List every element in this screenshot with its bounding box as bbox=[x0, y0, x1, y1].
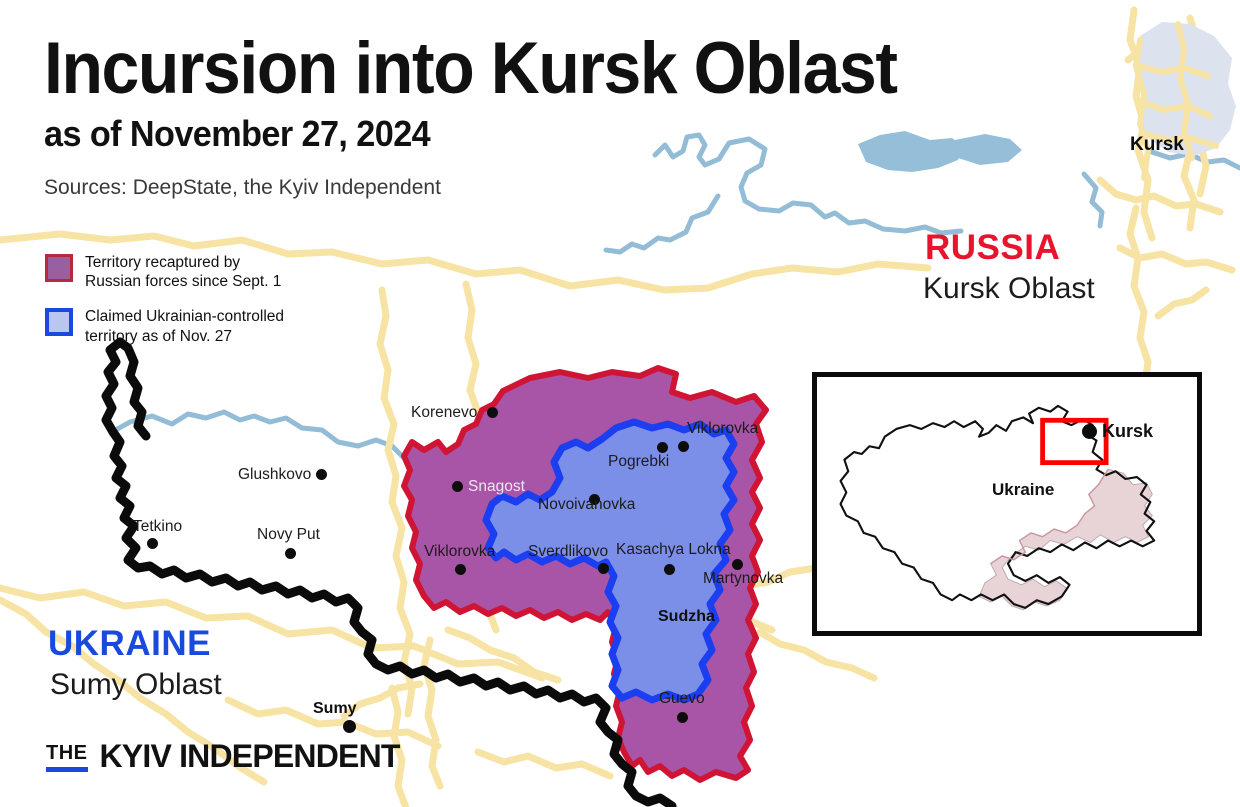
legend: Territory recaptured by Russian forces s… bbox=[45, 253, 375, 362]
legend-label-claimed: Claimed Ukrainian-controlled territory a… bbox=[85, 307, 284, 345]
water-bodies bbox=[858, 131, 1022, 172]
city-dot-novy-put bbox=[285, 548, 296, 559]
legend-swatch-claimed-icon bbox=[45, 308, 73, 336]
logo-the-text: THE bbox=[46, 743, 88, 772]
city-dot-snagost bbox=[452, 481, 463, 492]
city-dot-kasachya-lokna bbox=[664, 564, 675, 575]
city-dot-pogrebki bbox=[657, 442, 668, 453]
city-dot-glushkovo bbox=[316, 469, 327, 480]
city-dot-viklorovka bbox=[678, 441, 689, 452]
city-dot-martynovka bbox=[732, 559, 743, 570]
kyiv-independent-logo: THE KYIV INDEPENDENT bbox=[46, 740, 400, 772]
city-dot-viklorovka bbox=[455, 564, 466, 575]
map-infographic: Incursion into Kursk Oblast as of Novemb… bbox=[0, 0, 1240, 807]
legend-item-recaptured: Territory recaptured by Russian forces s… bbox=[45, 253, 375, 291]
inset-kursk-dot-icon bbox=[1082, 424, 1097, 439]
inset-map-svg bbox=[817, 377, 1197, 631]
inset-map bbox=[812, 372, 1202, 636]
city-dot-tetkino bbox=[147, 538, 158, 549]
legend-item-claimed: Claimed Ukrainian-controlled territory a… bbox=[45, 307, 375, 345]
legend-label-recaptured: Territory recaptured by Russian forces s… bbox=[85, 253, 281, 291]
legend-swatch-recaptured-icon bbox=[45, 254, 73, 282]
city-dot-guevo bbox=[677, 712, 688, 723]
logo-name-text: KYIV INDEPENDENT bbox=[100, 740, 400, 772]
city-dot-sumy bbox=[343, 720, 356, 733]
kursk-urban-area bbox=[1134, 22, 1236, 178]
city-dot-novoivanovka bbox=[589, 494, 600, 505]
city-dot-sverdlikovo bbox=[598, 563, 609, 574]
city-dot-korenevo bbox=[487, 407, 498, 418]
